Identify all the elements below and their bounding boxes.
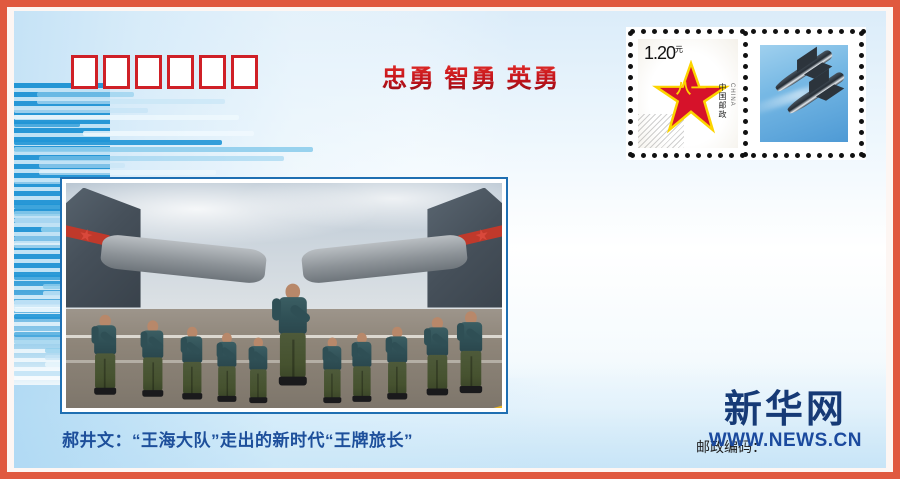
perforation-dot <box>628 31 633 36</box>
perforation-dot <box>696 29 701 34</box>
speed-stripe <box>37 99 225 104</box>
pilot-figure <box>354 332 370 385</box>
perforation-dot <box>674 29 679 34</box>
pilot-arm <box>272 298 281 320</box>
main-photo <box>66 183 502 408</box>
pilot-boots <box>460 386 483 393</box>
pilot-legs <box>250 369 267 398</box>
pilot-arm <box>424 329 431 346</box>
envelope-root: 忠勇 智勇 英勇 郝 <box>0 0 900 479</box>
perforation-dot <box>641 29 646 34</box>
postal-code-box-4[interactable] <box>167 55 194 89</box>
perforation-dot <box>628 141 633 146</box>
main-photo-frame <box>60 177 508 414</box>
pilot-arm <box>92 326 99 344</box>
perforation-dot <box>762 29 767 34</box>
speed-stripe <box>14 108 148 113</box>
perforation-dot <box>850 29 855 34</box>
perforation-dot <box>784 153 789 158</box>
speed-stripe <box>14 122 80 127</box>
speed-stripe <box>14 147 313 152</box>
perforation-dot <box>859 75 864 80</box>
perforation-dot <box>859 130 864 135</box>
perforation-dot <box>743 119 748 124</box>
pilot-boots <box>323 398 341 404</box>
slogan-text: 忠勇 智勇 英勇 <box>382 59 561 95</box>
perforation-dot <box>663 29 668 34</box>
perforation-dot <box>685 153 690 158</box>
pilot-legs <box>144 358 163 392</box>
tarmac-yellow-line <box>349 399 502 408</box>
postal-code-box-6[interactable] <box>231 55 258 89</box>
postal-code-box-5[interactable] <box>199 55 226 89</box>
stamp-issuer-en: CHINA <box>729 83 735 119</box>
xinhua-watermark: 新华网 WWW.NEWS.CN <box>709 391 862 450</box>
perforation-dot <box>859 97 864 102</box>
perforation-dot <box>839 29 844 34</box>
perforation-dot <box>729 29 734 34</box>
perforation-dot <box>859 31 864 36</box>
perforation-dot <box>773 29 778 34</box>
pilot-arm <box>181 337 187 353</box>
postage-stamp-block[interactable]: 1.20元 八一 中国邮政 CHINA <box>626 27 866 160</box>
pilot-arm <box>352 342 358 357</box>
perforation-dot <box>795 153 800 158</box>
pilot-boots <box>426 389 448 396</box>
pilot-boots <box>249 398 267 404</box>
pilot-figure <box>94 314 116 385</box>
pilot-arm <box>248 347 254 361</box>
pilot-arm <box>386 337 392 353</box>
perforation-dot <box>674 153 679 158</box>
perforation-dot <box>859 86 864 91</box>
speed-stripe <box>39 170 216 175</box>
perforation-dot <box>817 29 822 34</box>
perforation-dot <box>652 29 657 34</box>
stamp-issuer: 中国邮政 CHINA <box>717 83 735 119</box>
perforation-dot <box>795 29 800 34</box>
perforation-dot <box>743 141 748 146</box>
perforation-dot <box>696 153 701 158</box>
pilot-figure <box>388 327 406 386</box>
perforation-dot <box>628 152 633 157</box>
perforation-dot <box>641 153 646 158</box>
speed-stripe <box>83 131 254 136</box>
pilot-arm <box>323 347 329 361</box>
perforation-dot <box>817 153 822 158</box>
perforation-dot <box>628 75 633 80</box>
stamp-image-panel[interactable] <box>754 39 854 148</box>
stamp-jet-photo <box>760 45 848 142</box>
pilot-legs <box>354 366 371 396</box>
perforation-dot <box>652 153 657 158</box>
speed-stripe <box>14 83 74 88</box>
postal-code-boxes[interactable] <box>71 55 258 89</box>
pilot-figure <box>183 327 201 386</box>
perforation-dot <box>743 53 748 58</box>
perforation-dot <box>743 42 748 47</box>
perforation-dot <box>628 130 633 135</box>
pilot-legs <box>280 333 306 378</box>
perforation-dot <box>743 86 748 91</box>
pilot-figure <box>426 317 447 385</box>
speed-stripe <box>14 140 222 145</box>
pilot-boots <box>387 393 407 399</box>
pilot-legs <box>388 362 406 394</box>
perforation-dot <box>743 108 748 113</box>
watermark-url: WWW.NEWS.CN <box>709 431 862 450</box>
pilot-figure <box>143 321 163 386</box>
perforation-dot <box>743 130 748 135</box>
perforation-dot <box>743 31 748 36</box>
speed-stripe <box>14 115 239 120</box>
perforation-dot <box>743 75 748 80</box>
stamp-denomination-unit: 元 <box>675 45 683 54</box>
pilot-figure <box>275 284 310 399</box>
perforation-dot <box>628 86 633 91</box>
pilot-figure <box>219 332 235 385</box>
perforation-dot <box>859 152 864 157</box>
pilot-figure <box>251 338 266 386</box>
perforation-dot <box>628 53 633 58</box>
pilot-figure <box>460 311 483 386</box>
pilot-legs <box>427 355 447 389</box>
speed-stripe <box>39 156 284 161</box>
speed-stripe <box>37 92 134 97</box>
pilot-legs <box>95 353 115 388</box>
perforation-dot <box>828 29 833 34</box>
perforation-dot <box>628 108 633 113</box>
pilot-boots <box>143 390 164 397</box>
pilot-boots <box>353 395 372 401</box>
perforation-dot <box>685 29 690 34</box>
pilot-arm <box>457 323 464 341</box>
perforation-dot <box>859 141 864 146</box>
pilot-legs <box>183 362 201 394</box>
perforation-dot <box>743 152 748 157</box>
perforation-dot <box>828 153 833 158</box>
perforation-dot <box>707 29 712 34</box>
perforation-dot <box>743 64 748 69</box>
pilot-legs <box>219 366 236 396</box>
perforation-dot <box>762 153 767 158</box>
perforation-dot <box>859 42 864 47</box>
perforation-dot <box>718 153 723 158</box>
photo-caption: 郝井文：“王海大队”走出的新时代“王牌旅长” <box>62 426 413 451</box>
postal-code-box-1[interactable] <box>71 55 98 89</box>
perforation-dot <box>628 97 633 102</box>
perforation-dot <box>784 29 789 34</box>
perforation-dot <box>806 153 811 158</box>
perforation-dot <box>743 97 748 102</box>
pilot-boots <box>218 395 237 401</box>
pilot-legs <box>324 369 341 398</box>
postal-code-box-2[interactable] <box>103 55 130 89</box>
pilot-boots <box>279 377 307 386</box>
perforation-dot <box>806 29 811 34</box>
stamp-denomination-panel[interactable]: 1.20元 八一 中国邮政 CHINA <box>638 39 738 148</box>
perforation-dot <box>859 119 864 124</box>
pilot-boots <box>94 387 116 394</box>
postal-code-box-3[interactable] <box>135 55 162 89</box>
perforation-dot <box>859 64 864 69</box>
pilot-boots <box>182 393 202 399</box>
perforation-dot <box>663 153 668 158</box>
watermark-name: 新华网 <box>709 391 862 429</box>
perforation-dot <box>707 153 712 158</box>
perforation-dot <box>751 29 756 34</box>
pilot-legs <box>461 351 482 387</box>
speed-stripe <box>39 163 125 168</box>
perforation-dot <box>773 153 778 158</box>
perforation-dot <box>628 64 633 69</box>
perforation-dot <box>839 153 844 158</box>
perforation-dot <box>859 108 864 113</box>
perforation-dot <box>751 153 756 158</box>
pilot-arm <box>217 342 223 357</box>
pilot-figure <box>325 338 340 386</box>
perforation-dot <box>859 53 864 58</box>
pilot-arm <box>141 332 148 349</box>
perforation-dot <box>628 42 633 47</box>
perforation-dot <box>729 153 734 158</box>
perforation-dot <box>718 29 723 34</box>
perforation-dot <box>628 119 633 124</box>
perforation-dot <box>850 153 855 158</box>
stamp-issuer-cn: 中国邮政 <box>717 83 728 119</box>
